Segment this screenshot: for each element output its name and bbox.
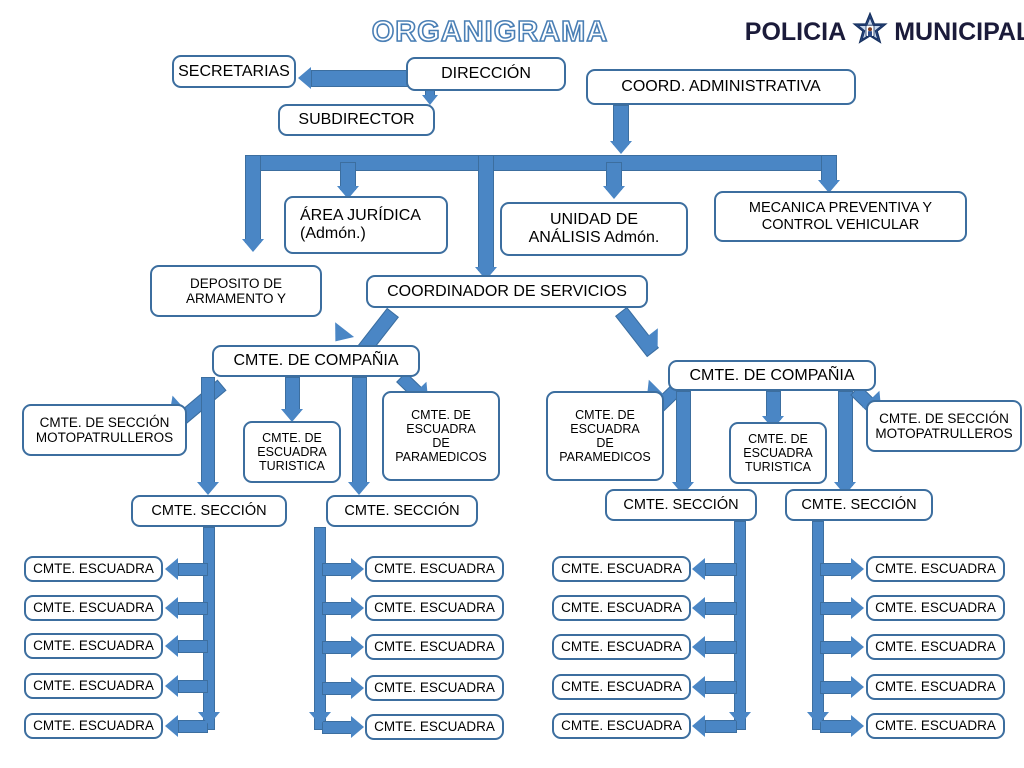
arrowhead-right-col4-row2 [851, 597, 864, 619]
connector-col2-row3 [322, 641, 352, 654]
node-motopatrulleros-left[interactable]: CMTE. DE SECCIÓN MOTOPATRULLEROS [22, 404, 187, 456]
list-item[interactable]: CMTE. ESCUADRA [365, 714, 504, 740]
arrowhead-right-col2-row1 [351, 558, 364, 580]
list-item[interactable]: CMTE. ESCUADRA [866, 634, 1005, 660]
arrowhead-left-col1-row3 [165, 635, 178, 657]
connector-compania-left-to-seccion2 [352, 377, 367, 486]
list-item[interactable]: CMTE. ESCUADRA [24, 673, 163, 699]
connector-col4-row3 [820, 641, 852, 654]
node-cmte-seccion-3[interactable]: CMTE. SECCIÓN [605, 489, 757, 521]
list-item[interactable]: CMTE. ESCUADRA [866, 595, 1005, 621]
list-item[interactable]: CMTE. ESCUADRA [552, 674, 691, 700]
node-coordinador-servicios[interactable]: COORDINADOR DE SERVICIOS [366, 275, 648, 308]
arrowhead-left-col1-row5 [165, 715, 178, 737]
node-escuadra-paramedicos-left[interactable]: CMTE. DE ESCUADRA DE PARAMEDICOS [382, 391, 500, 481]
connector-direccion-to-secretarias [311, 70, 411, 87]
arrowhead-left-col1-row2 [165, 597, 178, 619]
list-item[interactable]: CMTE. ESCUADRA [24, 633, 163, 659]
arrowhead-right-col4-row1 [851, 558, 864, 580]
node-cmte-compania-left[interactable]: CMTE. DE COMPAÑIA [212, 345, 420, 377]
arrowhead-right-col4-row3 [851, 636, 864, 658]
list-item[interactable]: CMTE. ESCUADRA [866, 713, 1005, 739]
arrowhead-down-spine-2 [309, 712, 331, 725]
list-item[interactable]: CMTE. ESCUADRA [365, 556, 504, 582]
node-unidad-analisis[interactable]: UNIDAD DE ANÁLISIS Admón. [500, 202, 688, 256]
node-direccion[interactable]: DIRECCIÓN [406, 57, 566, 91]
logo-text-policia: POLICIA [745, 18, 846, 47]
connector-bus-to-deposito [245, 155, 261, 243]
spine-column-1 [203, 527, 215, 730]
arrowhead-down-spine-4 [807, 712, 829, 725]
node-cmte-seccion-1[interactable]: CMTE. SECCIÓN [131, 495, 287, 527]
node-secretarias[interactable]: SECRETARIAS [172, 55, 296, 88]
node-mecanica-preventiva[interactable]: MECANICA PREVENTIVA Y CONTROL VEHICULAR [714, 191, 967, 242]
node-coord-administrativa[interactable]: COORD. ADMINISTRATIVA [586, 69, 856, 105]
connector-col1-row2 [178, 602, 208, 615]
police-star-badge-icon [850, 12, 890, 52]
arrowhead-down-unidad-analisis [603, 186, 625, 199]
arrowhead-down-spine-3 [729, 712, 751, 725]
list-item[interactable]: CMTE. ESCUADRA [552, 556, 691, 582]
arrowhead-right-col4-row5 [851, 715, 864, 737]
connector-col4-row1 [820, 563, 852, 576]
connector-col2-row1 [322, 563, 352, 576]
list-item[interactable]: CMTE. ESCUADRA [24, 595, 163, 621]
connector-col3-row3 [705, 641, 737, 654]
connector-compania-right-to-seccion3 [676, 391, 691, 486]
spine-column-2 [314, 527, 326, 730]
node-motopatrulleros-right[interactable]: CMTE. DE SECCIÓN MOTOPATRULLEROS [866, 400, 1022, 452]
node-escuadra-turistica-right[interactable]: CMTE. DE ESCUADRA TURISTICA [729, 422, 827, 484]
arrowhead-left-secretarias [298, 67, 311, 89]
node-cmte-seccion-2[interactable]: CMTE. SECCIÓN [326, 495, 478, 527]
list-item[interactable]: CMTE. ESCUADRA [552, 595, 691, 621]
connector-compania-right-to-seccion4 [838, 391, 853, 486]
arrowhead-left-col1-row1 [165, 558, 178, 580]
list-item[interactable]: CMTE. ESCUADRA [866, 674, 1005, 700]
list-item[interactable]: CMTE. ESCUADRA [365, 595, 504, 621]
connector-col1-row4 [178, 680, 208, 693]
connector-bus-to-coordinador-servicios [478, 155, 494, 271]
node-deposito-armamento[interactable]: DEPOSITO DE ARMAMENTO Y [150, 265, 322, 317]
connector-col3-row4 [705, 681, 737, 694]
connector-col2-row4 [322, 682, 352, 695]
node-subdirector[interactable]: SUBDIRECTOR [278, 104, 435, 136]
arrowhead-left-col3-row3 [692, 636, 705, 658]
arrowhead-down-spine-1 [198, 712, 220, 725]
node-escuadra-paramedicos-right[interactable]: CMTE. DE ESCUADRA DE PARAMEDICOS [546, 391, 664, 481]
connector-col3-row1 [705, 563, 737, 576]
list-item[interactable]: CMTE. ESCUADRA [552, 713, 691, 739]
connector-col4-row4 [820, 681, 852, 694]
node-escuadra-turistica-left[interactable]: CMTE. DE ESCUADRA TURISTICA [243, 421, 341, 483]
arrowhead-right-col2-row2 [351, 597, 364, 619]
connector-coord-to-bus [613, 105, 629, 145]
arrowhead-down-coord-bus [610, 141, 632, 154]
node-area-juridica[interactable]: ÁREA JURÍDICA (Admón.) [284, 196, 448, 254]
arrowhead-down-seccion1 [197, 482, 219, 495]
arrowhead-left-col3-row4 [692, 676, 705, 698]
connector-compania-left-to-seccion1 [201, 377, 215, 486]
arrowhead-left-col3-row1 [692, 558, 705, 580]
spine-column-4 [812, 521, 824, 730]
arrowhead-right-col2-row4 [351, 677, 364, 699]
connector-col3-row2 [705, 602, 737, 615]
arrowhead-right-col2-row5 [351, 716, 364, 738]
page-title: ORGANIGRAMA [360, 16, 620, 49]
list-item[interactable]: CMTE. ESCUADRA [552, 634, 691, 660]
arrowhead-down-seccion2 [348, 482, 370, 495]
spine-column-3 [734, 521, 746, 730]
arrowhead-left-col3-row2 [692, 597, 705, 619]
connector-col1-row3 [178, 640, 208, 653]
node-cmte-seccion-4[interactable]: CMTE. SECCIÓN [785, 489, 933, 521]
connector-col2-row2 [322, 602, 352, 615]
list-item[interactable]: CMTE. ESCUADRA [365, 634, 504, 660]
arrowhead-left-col3-row5 [692, 715, 705, 737]
policia-municipal-logo: POLICIA MUNICIPAL [762, 12, 1014, 52]
connector-col1-row1 [178, 563, 208, 576]
arrowhead-left-col1-row4 [165, 675, 178, 697]
arrowhead-down-deposito [242, 239, 264, 252]
horizontal-distribution-bus [245, 155, 837, 171]
arrowhead-right-col4-row4 [851, 676, 864, 698]
list-item[interactable]: CMTE. ESCUADRA [24, 556, 163, 582]
node-cmte-compania-right[interactable]: CMTE. DE COMPAÑIA [668, 360, 876, 391]
list-item[interactable]: CMTE. ESCUADRA [24, 713, 163, 739]
connector-compania-left-to-turistica [285, 377, 300, 413]
list-item[interactable]: CMTE. ESCUADRA [866, 556, 1005, 582]
arrowhead-right-col2-row3 [351, 636, 364, 658]
list-item[interactable]: CMTE. ESCUADRA [365, 675, 504, 701]
connector-col4-row2 [820, 602, 852, 615]
organigrama-canvas: ORGANIGRAMA POLICIA MUNICIPAL SECRETARIA… [0, 0, 1024, 768]
logo-text-municipal: MUNICIPAL [894, 18, 1024, 47]
